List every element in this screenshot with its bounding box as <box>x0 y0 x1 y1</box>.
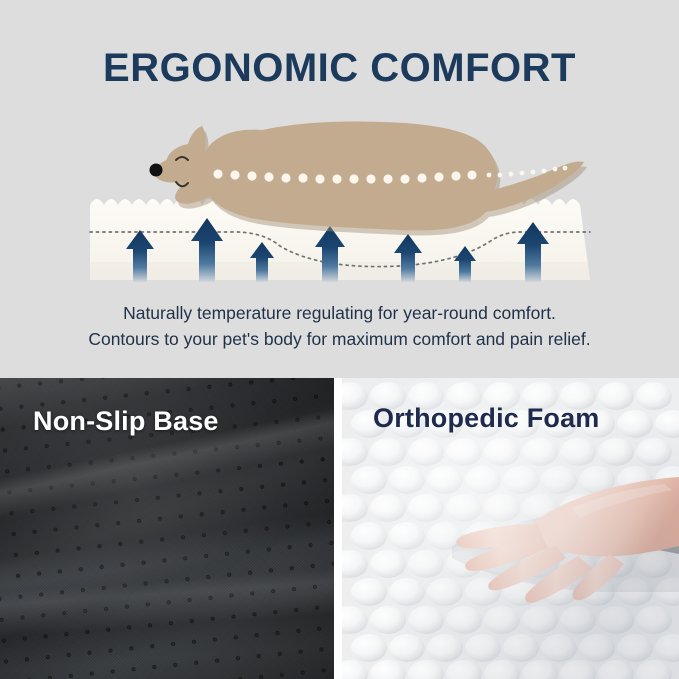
dog-on-foam-illustration <box>0 110 679 290</box>
caption-block: Naturally temperature regulating for yea… <box>0 300 679 352</box>
feature-panels: Non-Slip Base <box>0 378 679 679</box>
panel-non-slip-base: Non-Slip Base <box>0 378 334 679</box>
hero-panel: ERGONOMIC COMFORT <box>0 0 679 378</box>
caption-line-1: Naturally temperature regulating for yea… <box>0 300 679 326</box>
caption-line-2: Contours to your pet's body for maximum … <box>0 326 679 352</box>
panel-label-orthopedic-foam: Orthopedic Foam <box>373 403 600 434</box>
product-infographic: ERGONOMIC COMFORT <box>0 0 679 679</box>
dog-nose <box>150 164 163 177</box>
panel-label-non-slip-base: Non-Slip Base <box>33 406 219 437</box>
panel-orthopedic-foam: Orthopedic Foam <box>342 378 679 679</box>
page-title: ERGONOMIC COMFORT <box>0 46 679 91</box>
